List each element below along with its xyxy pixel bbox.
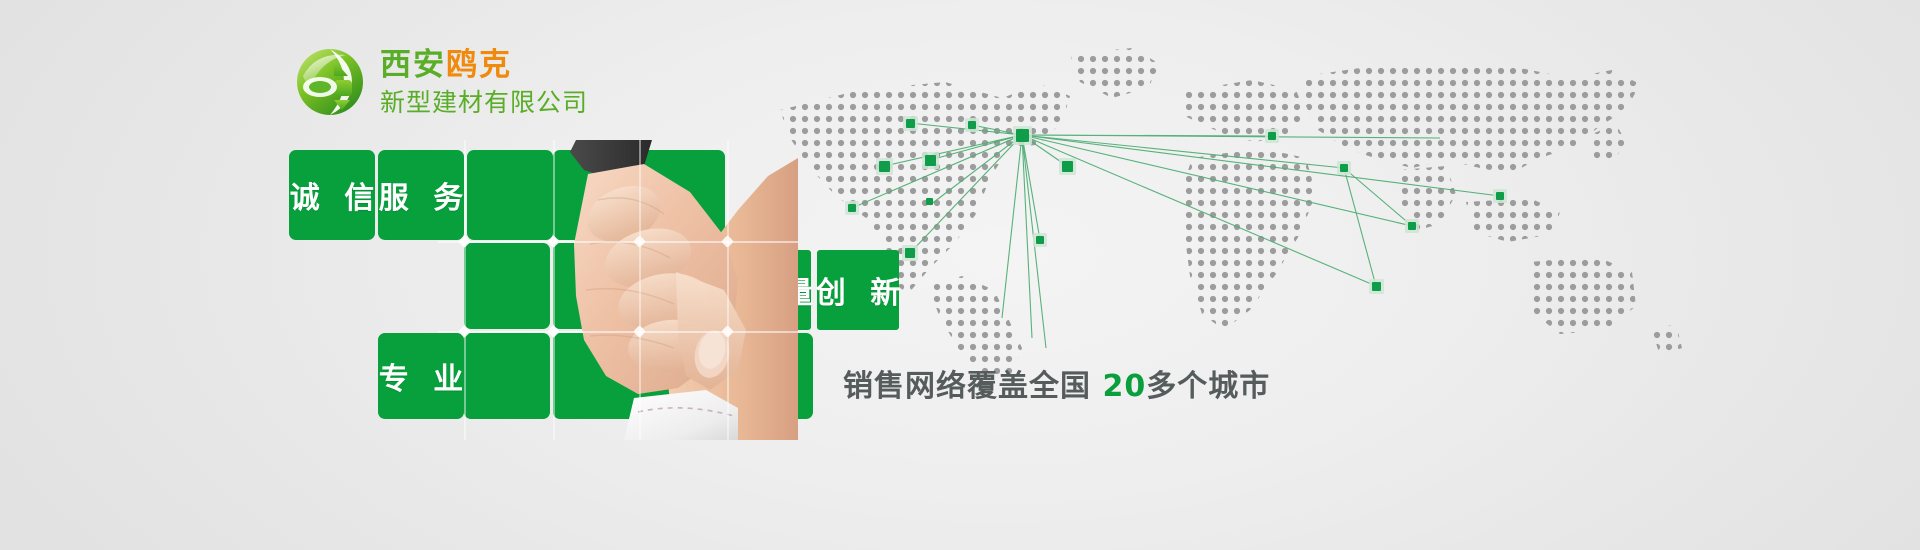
tile-chengxin: 诚 信 <box>289 150 375 240</box>
photo-gridline-v3 <box>639 140 641 440</box>
tile-chuangxin: 创 新 <box>817 250 899 330</box>
tagline-suffix: 多个城市 <box>1146 369 1270 404</box>
company-globe-logo-icon <box>294 46 366 118</box>
feature-tile-grid: 诚 信服 务质 量创 新专 业 <box>0 0 1920 550</box>
photo-gridline-h1 <box>438 241 798 243</box>
company-logo[interactable]: 西安鸥克 新型建材有限公司 <box>294 46 588 118</box>
company-brand: 鸥克 <box>446 47 512 83</box>
photo-gridline-v1 <box>464 140 466 440</box>
photo-gridline-v2 <box>553 140 555 440</box>
company-name-line2: 新型建材有限公司 <box>380 90 588 115</box>
company-name-block: 西安鸥克 新型建材有限公司 <box>380 50 588 115</box>
photo-gridline-v4 <box>727 140 729 440</box>
company-name-line1: 西安鸥克 <box>380 50 588 81</box>
tile-chengxin-label: 诚 信 <box>283 173 381 217</box>
company-city: 西安 <box>380 47 446 83</box>
sales-network-tagline: 销售网络覆盖全国 20多个城市 <box>843 361 1270 405</box>
photo-gridline-h2 <box>438 331 798 333</box>
promo-banner: 诚 信服 务质 量创 新专 业 <box>0 0 1920 550</box>
tile-chuangxin-label: 创 新 <box>809 268 907 312</box>
tagline-city-count: 20 <box>1102 369 1146 404</box>
handshake-photograph <box>438 140 798 440</box>
tagline-prefix: 销售网络覆盖全国 <box>843 369 1102 404</box>
